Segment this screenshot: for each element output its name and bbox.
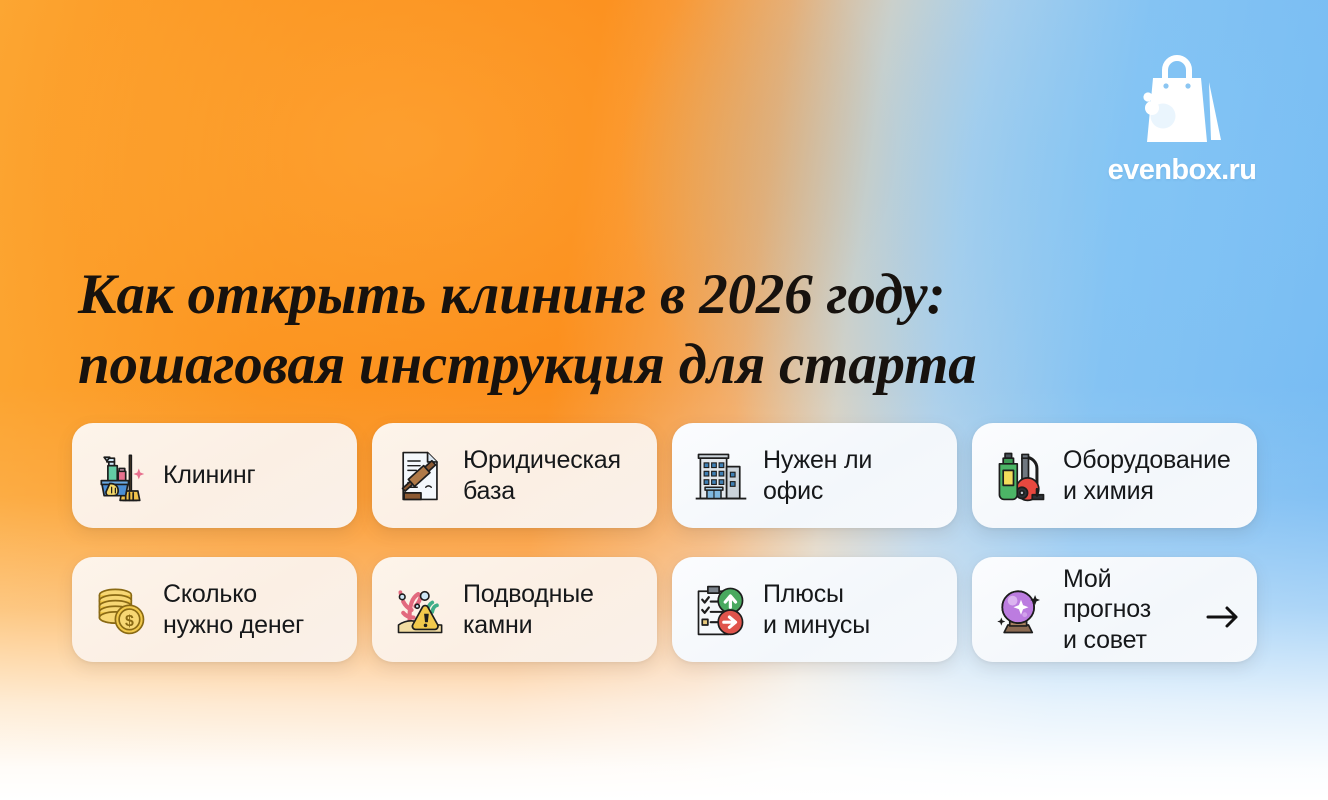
- topic-card-equipment[interactable]: Оборудование и химия: [972, 423, 1257, 528]
- topic-card-label: Клининг: [163, 460, 255, 491]
- topic-card-cleaning[interactable]: Клининг: [72, 423, 357, 528]
- topic-card-legal[interactable]: Юридическая база: [372, 423, 657, 528]
- gold-coins-icon: $: [90, 579, 152, 641]
- vacuum-detergent-icon: [990, 445, 1052, 507]
- topic-card-label: Оборудование и химия: [1063, 445, 1231, 506]
- document-gavel-icon: [390, 445, 452, 507]
- office-building-icon: [690, 445, 752, 507]
- brand-logo[interactable]: evenbox.ru: [1082, 52, 1282, 185]
- topic-card-pros-cons[interactable]: Плюсы и минусы: [672, 557, 957, 662]
- clipboard-arrows-icon: [690, 579, 752, 641]
- crystal-ball-icon: [990, 579, 1052, 641]
- topic-card-label: Юридическая база: [463, 445, 621, 506]
- coral-warning-icon: [390, 579, 452, 641]
- shopping-bag-bubbles-icon: [1129, 52, 1235, 150]
- page-title-line-1: Как открыть клининг в 2026 году:: [78, 263, 945, 326]
- topic-card-grid: Клининг: [72, 423, 1262, 662]
- topic-card-office[interactable]: Нужен ли офис: [672, 423, 957, 528]
- page-title: Как открыть клининг в 2026 году: пошагов…: [78, 260, 1278, 399]
- page-title-line-2: пошаговая инструкция для старта: [78, 330, 1278, 400]
- arrow-right-icon[interactable]: [1203, 589, 1243, 631]
- topic-card-label: Мой прогноз и совет: [1063, 564, 1203, 656]
- topic-card-label: Плюсы и минусы: [763, 579, 870, 640]
- poster-canvas: evenbox.ru Как открыть клининг в 2026 го…: [0, 0, 1328, 800]
- topic-card-pitfalls[interactable]: Подводные камни: [372, 557, 657, 662]
- topic-card-label: Сколько нужно денег: [163, 579, 304, 640]
- svg-text:$: $: [125, 612, 134, 629]
- topic-card-money[interactable]: $ Сколько нужно денег: [72, 557, 357, 662]
- topic-card-forecast[interactable]: Мой прогноз и совет: [972, 557, 1257, 662]
- brand-name: evenbox.ru: [1108, 156, 1257, 185]
- cleaning-supplies-icon: [90, 445, 152, 507]
- topic-card-label: Нужен ли офис: [763, 445, 872, 506]
- topic-card-label: Подводные камни: [463, 579, 594, 640]
